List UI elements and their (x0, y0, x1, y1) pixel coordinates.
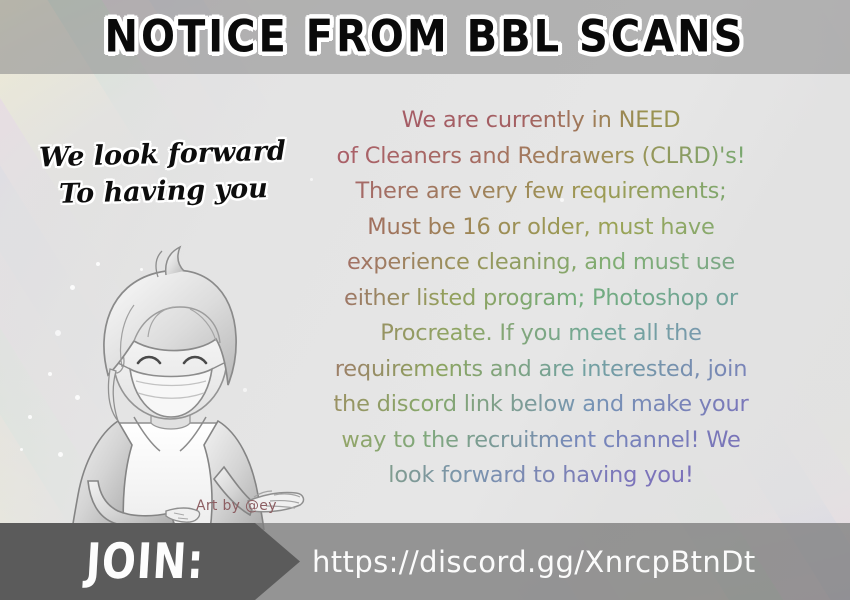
sparkle-dot (20, 448, 23, 451)
body-line-2: of Cleaners and Redrawers (CLRD)'s! (305, 139, 777, 175)
join-label: JOIN: (84, 533, 205, 589)
body-line-11: look forward to having you! (305, 458, 777, 494)
discord-invite-link[interactable]: https://discord.gg/XnrcpBtnDt (312, 523, 756, 600)
body-line-7: Procreate. If you meet all the (305, 316, 777, 352)
body-line-5: experience cleaning, and must use (305, 245, 777, 281)
body-line-6: either listed program; Photoshop or (305, 281, 777, 317)
sparkle-dot (28, 415, 32, 419)
footer-bar: JOIN: https://discord.gg/XnrcpBtnDt (0, 523, 850, 600)
character-illustration (38, 245, 313, 530)
body-line-8: requirements and are interested, join (305, 352, 777, 388)
body-line-3: There are very few requirements; (305, 174, 777, 210)
body-line-1: We are currently in NEED (305, 103, 777, 139)
page-title: NOTICE FROM BBL SCANS (105, 11, 746, 63)
join-chip-arrow: JOIN: (0, 523, 300, 600)
body-line-10: way to the recruitment channel! We (305, 423, 777, 459)
tagline-block: We look forward To having you (27, 132, 299, 214)
notice-body-text: We are currently in NEED of Cleaners and… (305, 103, 777, 494)
tagline-line-2: To having you (28, 169, 299, 214)
body-line-4: Must be 16 or older, must have (305, 210, 777, 246)
need-emphasis: NEED (619, 107, 681, 133)
header-bar: NOTICE FROM BBL SCANS (0, 0, 850, 74)
notice-poster: Art by @ey NOTICE FROM BBL SCANS We look… (0, 0, 850, 600)
body-line-9: the discord link below and make your (305, 387, 777, 423)
art-credit-label: Art by @ey (196, 498, 277, 514)
must-be-emphasis: Must be (367, 214, 455, 240)
